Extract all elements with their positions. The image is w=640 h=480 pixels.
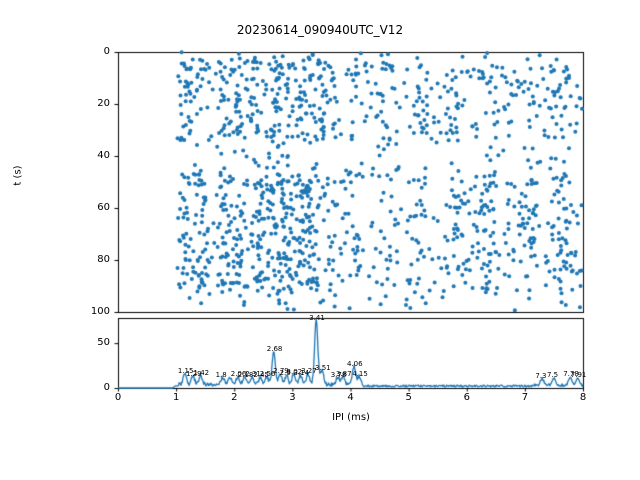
peak-annotation: 7.91 <box>571 371 587 379</box>
x-tick-label: 5 <box>399 392 419 403</box>
peak-annotation: 2.68 <box>267 345 283 353</box>
x-tick-label: 1 <box>166 392 186 403</box>
peak-annotation: 3.51 <box>315 364 331 372</box>
y-tick-label-top: 0 <box>80 46 110 57</box>
x-tick-label: 4 <box>341 392 361 403</box>
x-tick-label: 3 <box>282 392 302 403</box>
peak-annotation: 3.87 <box>336 370 352 378</box>
peak-annotation: 1.8 <box>216 371 227 379</box>
y-tick-label-top: 40 <box>80 150 110 161</box>
y-tick-label-top: 80 <box>80 254 110 265</box>
x-tick-label: 2 <box>224 392 244 403</box>
page-title: 20230614_090940UTC_V12 <box>0 23 640 37</box>
x-tick-label: 8 <box>573 392 593 403</box>
y-tick-label-top: 100 <box>80 306 110 317</box>
y-tick-label-top: 60 <box>80 202 110 213</box>
x-tick-label: 7 <box>515 392 535 403</box>
x-axis-label: IPI (ms) <box>118 412 584 423</box>
x-tick-label: 0 <box>108 392 128 403</box>
y-axis-label-top: t (s) <box>13 146 24 206</box>
peak-annotation: 3.41 <box>309 314 325 322</box>
x-tick-label: 6 <box>457 392 477 403</box>
peak-annotation: 7.3 <box>535 372 546 380</box>
peak-annotation: 4.15 <box>352 370 368 378</box>
y-tick-label-bottom: 50 <box>80 337 110 348</box>
y-tick-label-top: 20 <box>80 98 110 109</box>
y-tick-label-bottom: 0 <box>80 382 110 393</box>
matplotlib-figure: 20230614_090940UTC_V12 IPI (ms) t (s) 01… <box>0 0 640 480</box>
plot-canvas <box>0 0 640 480</box>
peak-annotation: 1.42 <box>194 369 210 377</box>
peak-annotation: 4.06 <box>347 360 363 368</box>
peak-annotation: 7.5 <box>547 371 558 379</box>
